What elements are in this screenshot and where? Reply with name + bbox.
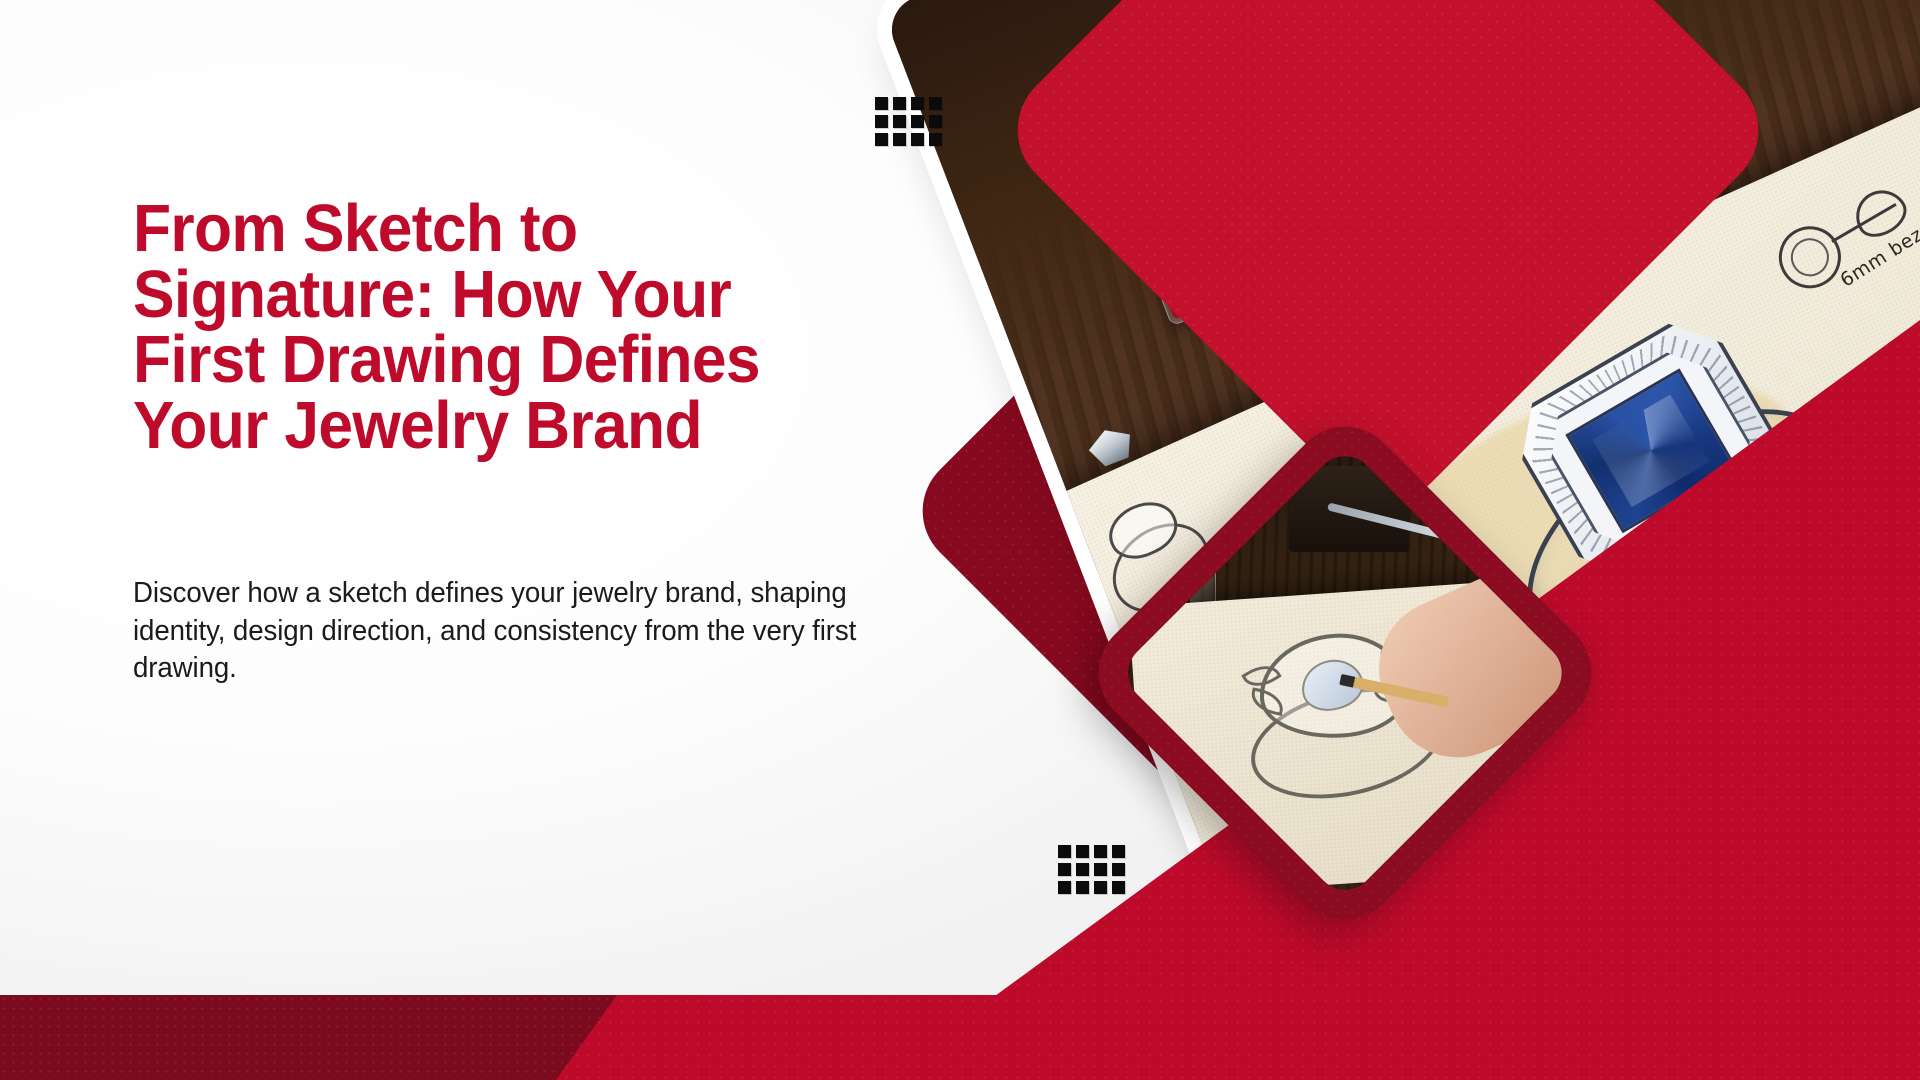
- dot-square: [929, 133, 942, 146]
- dot-square: [875, 97, 888, 110]
- dot-square: [911, 133, 924, 146]
- dot-square: [875, 133, 888, 146]
- dot-square: [1112, 845, 1125, 858]
- dot-square: [875, 115, 888, 128]
- dot-square: [911, 97, 924, 110]
- footer-bar-dark: [0, 995, 640, 1080]
- dot-square: [1076, 845, 1089, 858]
- dot-square: [1094, 881, 1107, 894]
- dot-square: [911, 115, 924, 128]
- dot-square: [1058, 881, 1071, 894]
- dot-square: [1112, 881, 1125, 894]
- text-content-block: From Sketch to Signature: How Your First…: [133, 196, 933, 688]
- page-title: From Sketch to Signature: How Your First…: [133, 196, 877, 459]
- banner-canvas: Original Study Ref. 6mm bezel Oval Marqu…: [0, 0, 1920, 1080]
- dot-square: [1112, 863, 1125, 876]
- dot-square: [1058, 845, 1071, 858]
- page-subtitle: Discover how a sketch defines your jewel…: [133, 575, 880, 689]
- dot-square: [1076, 881, 1089, 894]
- dot-square: [1058, 863, 1071, 876]
- dot-square: [929, 115, 942, 128]
- dot-square: [929, 97, 942, 110]
- dot-square: [1094, 863, 1107, 876]
- dot-square: [1076, 863, 1089, 876]
- dot-square: [893, 97, 906, 110]
- dot-square: [1094, 845, 1107, 858]
- dot-grid-top: [875, 97, 942, 146]
- dot-grid-bottom: [1058, 845, 1125, 894]
- dot-square: [893, 133, 906, 146]
- dot-texture: [0, 995, 640, 1080]
- dot-square: [893, 115, 906, 128]
